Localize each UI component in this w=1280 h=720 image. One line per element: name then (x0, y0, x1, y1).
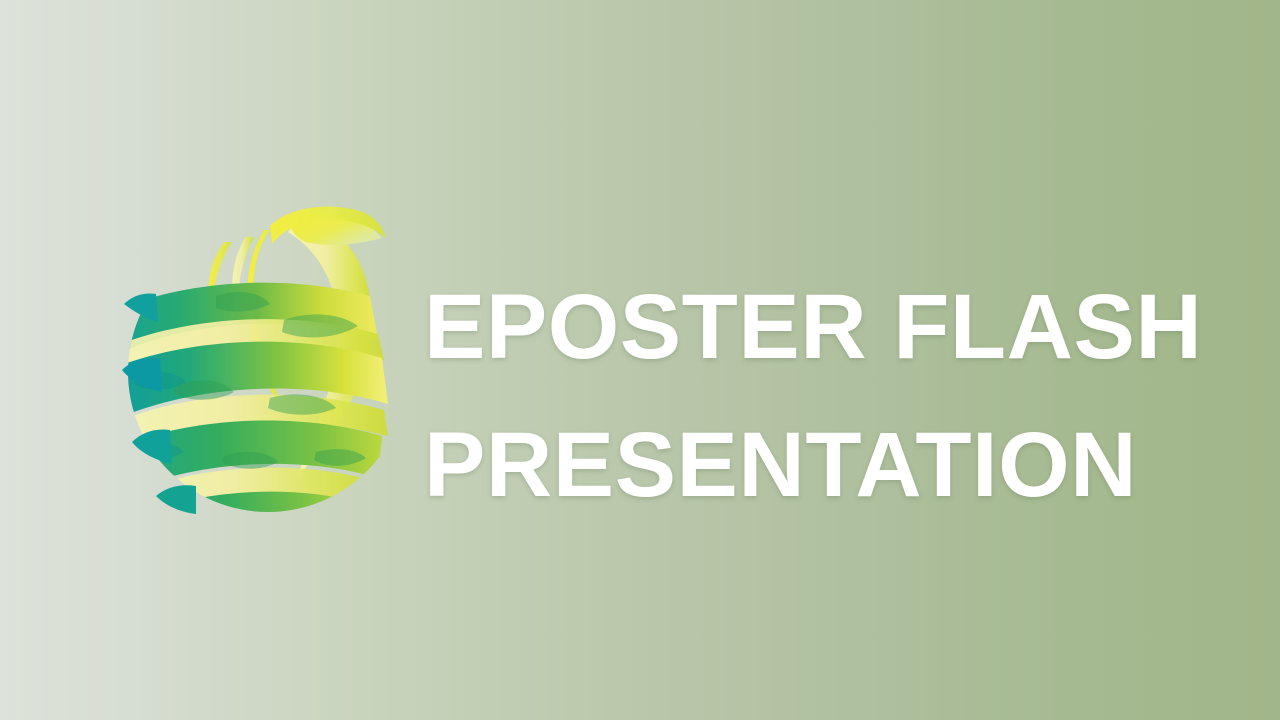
globe-ribbons (120, 207, 388, 525)
presentation-slide: EPOSTER FLASH PRESENTATION (0, 0, 1280, 720)
headline-line-2: PRESENTATION (424, 396, 1214, 534)
page-title: EPOSTER FLASH PRESENTATION (424, 258, 1214, 534)
eposter-globe-logo (120, 200, 410, 525)
headline-line-1: EPOSTER FLASH (424, 258, 1214, 396)
